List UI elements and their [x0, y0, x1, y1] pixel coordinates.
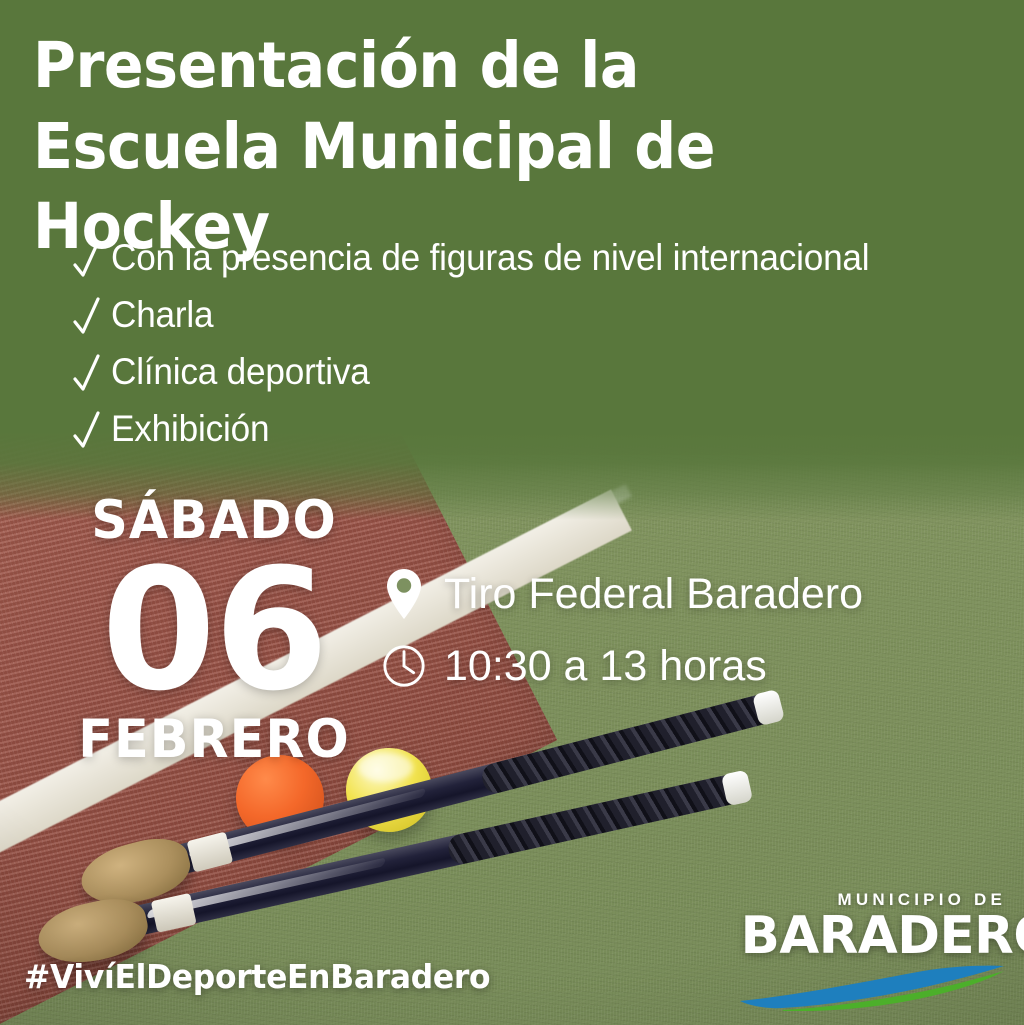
- venue-row: Tiro Federal Baradero: [378, 566, 863, 622]
- list-item: Con la presencia de figuras de nivel int…: [72, 236, 1022, 280]
- list-item-label: Charla: [111, 293, 213, 337]
- poster-content: Presentación de la Escuela Municipal de …: [0, 0, 1024, 1025]
- time-row: 10:30 a 13 horas: [378, 638, 863, 694]
- logo-swoosh-icon: [738, 965, 1006, 1011]
- event-day-number: 06: [67, 550, 361, 710]
- event-details: Tiro Federal Baradero 10:30 a 13 horas: [378, 566, 863, 710]
- check-icon: [72, 238, 102, 282]
- event-month: FEBRERO: [70, 712, 358, 768]
- location-pin-icon: [378, 566, 430, 622]
- check-icon: [72, 295, 102, 339]
- list-item: Clínica deportiva: [72, 350, 1022, 394]
- feature-list: Con la presencia de figuras de nivel int…: [72, 236, 1022, 464]
- check-icon: [72, 352, 102, 396]
- logo-main-line: BARADERO: [741, 909, 1006, 963]
- time-label: 10:30 a 13 horas: [444, 641, 767, 691]
- event-date: SÁBADO 06 FEBRERO: [64, 494, 364, 768]
- municipality-logo: MUNICIPIO DE BARADERO: [738, 890, 1006, 1016]
- list-item-label: Clínica deportiva: [111, 350, 370, 394]
- list-item: Charla: [72, 293, 1022, 337]
- check-icon: [72, 409, 102, 453]
- page-title: Presentación de la Escuela Municipal de …: [33, 26, 926, 268]
- list-item: Exhibición: [72, 407, 1022, 451]
- venue-label: Tiro Federal Baradero: [444, 569, 863, 619]
- poster: Presentación de la Escuela Municipal de …: [0, 0, 1024, 1025]
- list-item-label: Exhibición: [111, 407, 269, 451]
- clock-icon: [378, 638, 430, 694]
- list-item-label: Con la presencia de figuras de nivel int…: [111, 236, 869, 280]
- hashtag: #VivíElDeporteEnBaradero: [24, 957, 490, 996]
